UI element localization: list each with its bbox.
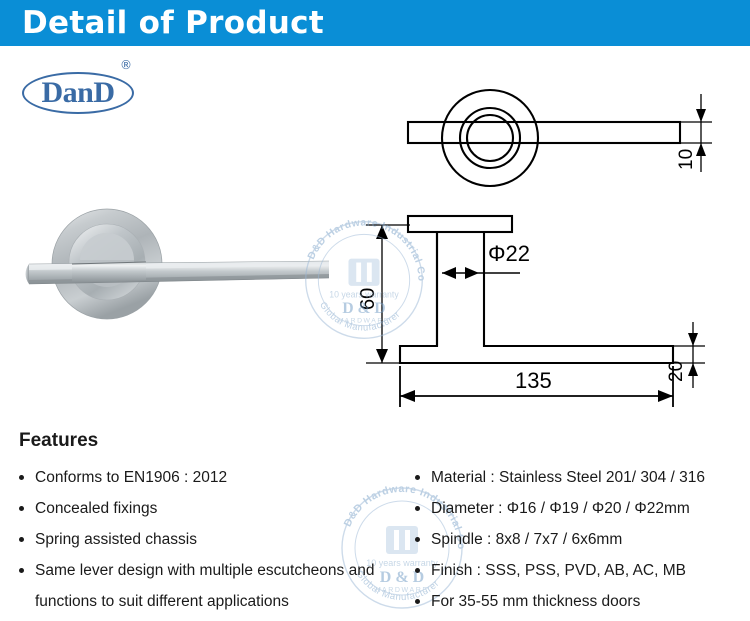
feature-item: Diameter : Φ16 / Φ19 / Φ20 / Φ22mm (415, 493, 745, 524)
side-view-drawing: Φ22 60 20 135 (360, 198, 710, 418)
feature-text: Conforms to EN1906 : 2012 (35, 469, 227, 486)
arrow-down-icon (688, 363, 698, 376)
feature-text: Spindle : 8x8 / 7x7 / 6x6mm (431, 531, 622, 548)
top-view-drawing: 10 (390, 78, 720, 198)
feature-text: Concealed fixings (35, 500, 157, 517)
brand-logo: DanD ® (18, 58, 148, 114)
feature-text: Spring assisted chassis (35, 531, 197, 548)
lever-bar-outline (408, 122, 680, 143)
feature-item: Spindle : 8x8 / 7x7 / 6x6mm (415, 524, 745, 555)
feature-item: Concealed fixings (19, 493, 389, 524)
page-title: Detail of Product (22, 2, 324, 44)
arrow-down-icon (696, 109, 706, 122)
bullet-icon (415, 475, 420, 480)
product-photo (14, 198, 344, 338)
arrow-up-icon (376, 225, 388, 239)
logo-text: DanD (18, 72, 138, 114)
feature-text: Material : Stainless Steel 201/ 304 / 31… (431, 469, 705, 486)
feature-item: Same lever design with multiple escutche… (19, 555, 389, 617)
features-list-right: Material : Stainless Steel 201/ 304 / 31… (415, 462, 745, 617)
bullet-icon (19, 506, 24, 511)
dimension-label-135: 135 (515, 368, 552, 393)
bullet-icon (415, 506, 420, 511)
features-heading: Features (19, 430, 98, 452)
arrow-left-icon (442, 267, 456, 279)
arrow-right-icon (658, 390, 673, 402)
feature-item: Spring assisted chassis (19, 524, 389, 555)
feature-item: For 35-55 mm thickness doors (415, 586, 745, 617)
feature-text: Finish : SSS, PSS, PVD, AB, AC, MB (431, 562, 686, 579)
feature-item: Material : Stainless Steel 201/ 304 / 31… (415, 462, 745, 493)
bullet-icon (415, 599, 420, 604)
rosette-outer-circle (442, 90, 538, 186)
features-list-left: Conforms to EN1906 : 2012 Concealed fixi… (19, 462, 389, 617)
arrow-up-icon (696, 143, 706, 156)
arrow-left-icon (400, 390, 415, 402)
dimension-label-60: 60 (360, 288, 379, 310)
arrow-up-icon (688, 333, 698, 346)
bullet-icon (19, 475, 24, 480)
registered-trademark-icon: ® (120, 58, 132, 72)
handle-hub-overlap (72, 262, 146, 282)
bullet-icon (19, 537, 24, 542)
feature-item: Conforms to EN1906 : 2012 (19, 462, 389, 493)
feature-text: Diameter : Φ16 / Φ19 / Φ20 / Φ22mm (431, 500, 690, 517)
neck-and-lever-outline (400, 232, 673, 363)
bullet-icon (19, 568, 24, 573)
product-detail-page: Detail of Product DanD ® (0, 0, 750, 621)
bullet-icon (415, 568, 420, 573)
feature-text: Same lever design with multiple escutche… (35, 562, 374, 610)
arrow-right-icon (465, 267, 479, 279)
handle-lever-bar (26, 261, 330, 284)
dimension-label-10: 10 (676, 149, 697, 170)
neck-top-cap (408, 216, 512, 232)
bullet-icon (415, 537, 420, 542)
feature-text: For 35-55 mm thickness doors (431, 593, 640, 610)
dimension-label-20: 20 (666, 361, 687, 382)
dimension-label-phi22: Φ22 (488, 241, 530, 266)
feature-item: Finish : SSS, PSS, PVD, AB, AC, MB (415, 555, 745, 586)
arrow-down-icon (376, 349, 388, 363)
rosette-middle-circle (460, 108, 520, 168)
